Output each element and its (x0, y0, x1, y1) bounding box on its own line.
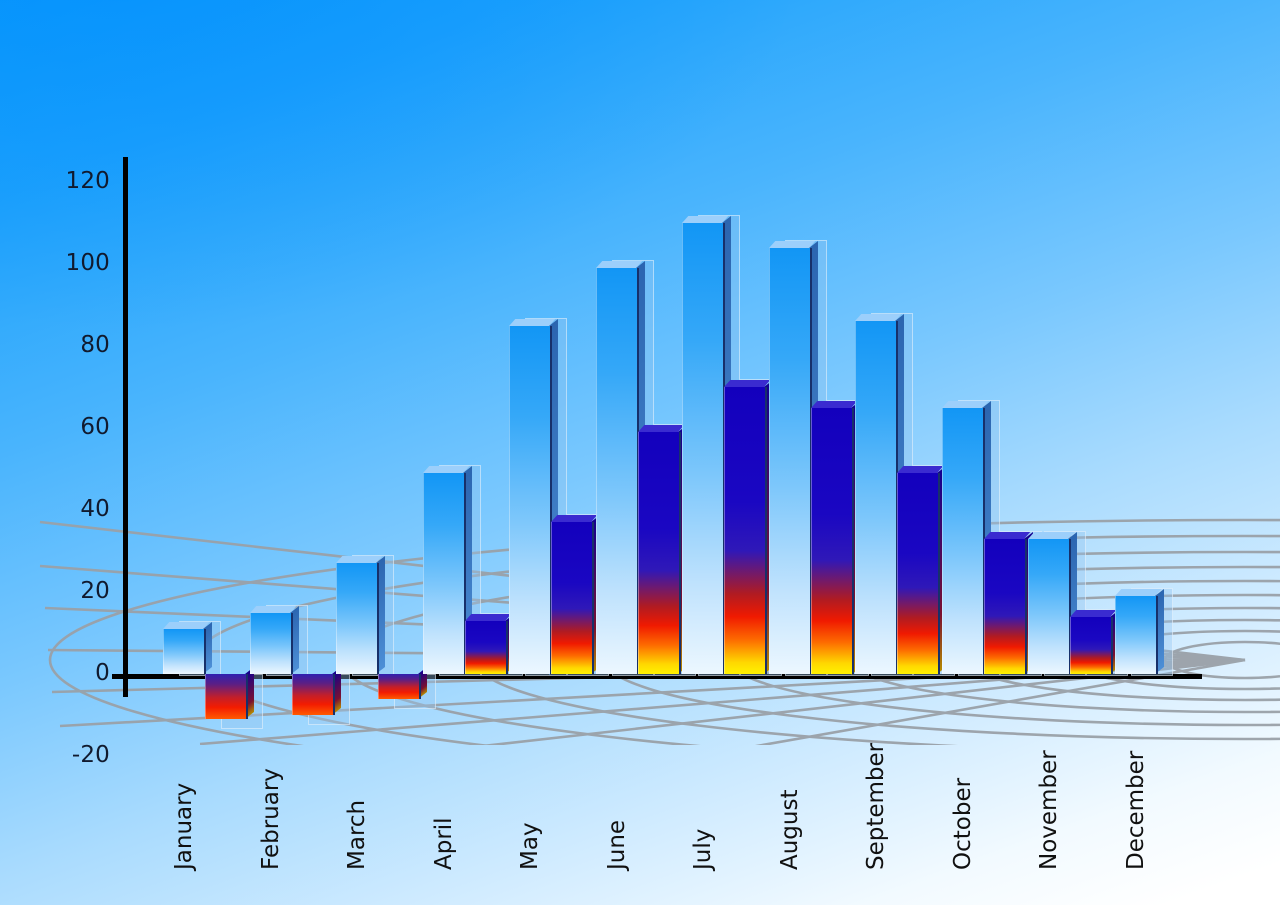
bar-december-series1[interactable] (1115, 596, 1155, 674)
bar-top-face (509, 319, 555, 326)
bar-front-face (1070, 617, 1113, 674)
y-tick-label-20: 20 (48, 578, 110, 604)
y-tick-label-60: 60 (48, 414, 110, 440)
x-tick-label-november: November (1036, 750, 1062, 870)
bar-top-face (811, 401, 857, 408)
bar-top-face (1115, 589, 1161, 596)
bar-february-series2[interactable] (292, 674, 332, 715)
bar-front-face (596, 268, 639, 674)
x-tick-label-march: March (344, 800, 370, 870)
x-tick-label-january: January (171, 783, 197, 870)
bar-front-face (163, 629, 206, 674)
y-tick-label-0: 0 (48, 660, 110, 686)
y-tick-label-120: 120 (48, 168, 110, 194)
bar-top-face (942, 401, 988, 408)
bar-january-series2[interactable] (205, 674, 245, 719)
bar-front-face (423, 473, 466, 674)
bar-august-series1[interactable] (769, 248, 809, 674)
bar-front-face (682, 223, 725, 674)
bar-top-face (984, 532, 1030, 539)
y-tick-label-neg20: -20 (48, 742, 110, 768)
bar-september-series2[interactable] (897, 473, 937, 674)
bar-front-face (724, 387, 767, 674)
bar-july-series1[interactable] (682, 223, 722, 674)
bar-front-face (292, 674, 335, 715)
bar-front-face (1028, 539, 1071, 674)
bar-front-face (336, 563, 379, 674)
bar-march-series1[interactable] (336, 563, 376, 674)
chart-canvas: 120100806040200-20JanuaryFebruaryMarchAp… (0, 0, 1280, 905)
bar-january-series1[interactable] (163, 629, 203, 674)
bar-october-series1[interactable] (942, 408, 982, 675)
bar-front-face (1115, 596, 1158, 674)
bar-front-face (897, 473, 940, 674)
x-tick-label-june: June (604, 820, 630, 870)
bar-front-face (465, 621, 508, 674)
bar-november-series2[interactable] (1070, 617, 1110, 674)
bar-top-face (423, 466, 469, 473)
x-tick-label-august: August (777, 790, 803, 871)
bar-front-face (811, 408, 854, 675)
bar-front-face (250, 613, 293, 675)
bar-may-series2[interactable] (551, 522, 591, 674)
bar-front-face (378, 674, 421, 699)
bar-april-series2[interactable] (465, 621, 505, 674)
x-tick-label-september: September (863, 743, 889, 870)
x-tick-label-april: April (431, 817, 457, 870)
x-tick-label-february: February (258, 768, 284, 870)
x-tick-label-july: July (690, 829, 716, 870)
bar-top-face (1070, 610, 1116, 617)
bar-may-series1[interactable] (509, 326, 549, 675)
bar-top-face (638, 425, 684, 432)
bar-october-series2[interactable] (984, 539, 1024, 674)
bar-april-series1[interactable] (423, 473, 463, 674)
bar-front-face (509, 326, 552, 675)
bar-september-series1[interactable] (855, 321, 895, 674)
bar-november-series1[interactable] (1028, 539, 1068, 674)
bar-front-face (855, 321, 898, 674)
bar-february-series1[interactable] (250, 613, 290, 675)
bar-top-face (596, 261, 642, 268)
y-axis-line (123, 157, 128, 697)
x-tick-label-december: December (1123, 751, 1149, 870)
bar-august-series2[interactable] (811, 408, 851, 675)
bar-june-series2[interactable] (638, 432, 678, 674)
y-tick-label-40: 40 (48, 496, 110, 522)
y-tick-label-80: 80 (48, 332, 110, 358)
x-tick-label-may: May (517, 822, 543, 870)
bar-front-face (769, 248, 812, 674)
y-tick-label-100: 100 (48, 250, 110, 276)
bar-june-series1[interactable] (596, 268, 636, 674)
bar-july-series2[interactable] (724, 387, 764, 674)
bar-front-face (942, 408, 985, 675)
plot-area: 120100806040200-20JanuaryFebruaryMarchAp… (0, 0, 1280, 905)
bar-front-face (984, 539, 1027, 674)
bar-top-face (1028, 532, 1074, 539)
x-tick-label-october: October (950, 778, 976, 870)
bar-top-face (769, 241, 815, 248)
bar-march-series2[interactable] (378, 674, 418, 699)
bar-front-face (638, 432, 681, 674)
bar-top-face (250, 606, 296, 613)
bar-top-face (465, 614, 511, 621)
bar-front-face (205, 674, 248, 719)
bar-front-face (551, 522, 594, 674)
